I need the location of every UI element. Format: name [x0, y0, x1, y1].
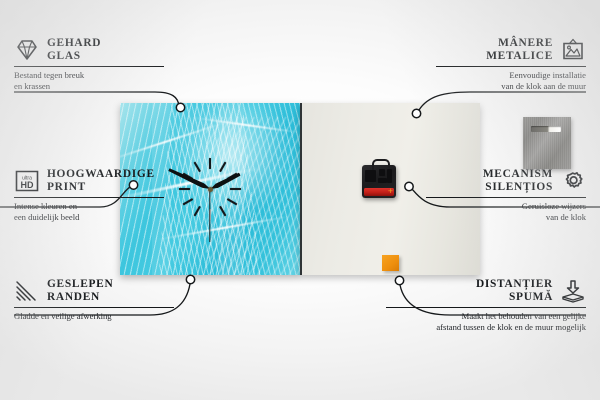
- arrow-down-layers-icon: [560, 279, 586, 303]
- callout-title: GEHARD GLAS: [47, 37, 101, 64]
- callout-distantier-spuma[interactable]: DISTANȚIER SPUMĂ Maakt het behouden van …: [386, 278, 586, 333]
- callout-subtitle: Gladde en veilige afwerking: [14, 311, 174, 322]
- callout-divider: [436, 66, 586, 68]
- callout-mecanism-silentios[interactable]: MECANISM SILENȚIOS Geruisloze wijzers va…: [426, 168, 586, 223]
- callout-header: MECANISM SILENȚIOS: [426, 168, 586, 195]
- callout-header: DISTANȚIER SPUMĂ: [386, 278, 586, 305]
- leader-dot-mecanism-silentios: [405, 182, 413, 190]
- callout-title: DISTANȚIER SPUMĂ: [386, 278, 553, 305]
- callout-title: GESLEPEN RANDEN: [47, 278, 113, 305]
- callout-title: MECANISM SILENȚIOS: [426, 168, 553, 195]
- leader-dot-gehard-glas: [176, 103, 184, 111]
- callout-divider: [386, 307, 586, 309]
- leader-dot-manere-metalice: [412, 109, 420, 117]
- callout-manere-metalice[interactable]: MÂNERE METALICE Eenvoudige installatie v…: [436, 37, 586, 92]
- callout-title: MÂNERE METALICE: [436, 37, 553, 64]
- svg-text:HD: HD: [21, 180, 34, 190]
- callout-divider: [14, 197, 164, 199]
- leader-dot-geslepen-randen: [186, 275, 194, 283]
- callout-header: GEHARD GLAS: [14, 37, 164, 64]
- callout-subtitle: Maakt het behouden van een gelijke afsta…: [386, 311, 586, 333]
- callout-header: MÂNERE METALICE: [436, 37, 586, 64]
- callout-gehard-glas[interactable]: GEHARD GLAS Bestand tegen breuk en krass…: [14, 37, 164, 92]
- picture-frame-icon: [560, 38, 586, 62]
- ultra-hd-icon: ultra HD: [14, 169, 40, 193]
- bevelled-edge-icon: [14, 279, 40, 303]
- callout-header: GESLEPEN RANDEN: [14, 278, 174, 305]
- gear-icon: [560, 169, 586, 193]
- callout-geslepen-randen[interactable]: GESLEPEN RANDEN Gladde en veilige afwerk…: [14, 278, 174, 322]
- callout-divider: [426, 197, 586, 199]
- callout-subtitle: Geruisloze wijzers van de klok: [426, 201, 586, 223]
- callout-header: ultra HD HOOGWAARDIGE PRINT: [14, 168, 164, 195]
- callout-subtitle: Intense kleuren en een duidelijk beeld: [14, 201, 164, 223]
- callout-subtitle: Bestand tegen breuk en krassen: [14, 70, 164, 92]
- leader-line-gehard-glas: [14, 92, 179, 106]
- infographic-canvas: GEHARD GLAS Bestand tegen breuk en krass…: [0, 0, 600, 400]
- diamond-icon: [14, 38, 40, 62]
- callout-subtitle: Eenvoudige installatie van de klok aan d…: [436, 70, 586, 92]
- callout-divider: [14, 66, 164, 68]
- callout-divider: [14, 307, 174, 309]
- callout-hoogwaardige-print[interactable]: ultra HD HOOGWAARDIGE PRINT Intense kleu…: [14, 168, 164, 223]
- callout-title: HOOGWAARDIGE PRINT: [47, 168, 155, 195]
- leader-line-manere-metalice: [419, 92, 586, 110]
- bracket-slot: [531, 126, 561, 132]
